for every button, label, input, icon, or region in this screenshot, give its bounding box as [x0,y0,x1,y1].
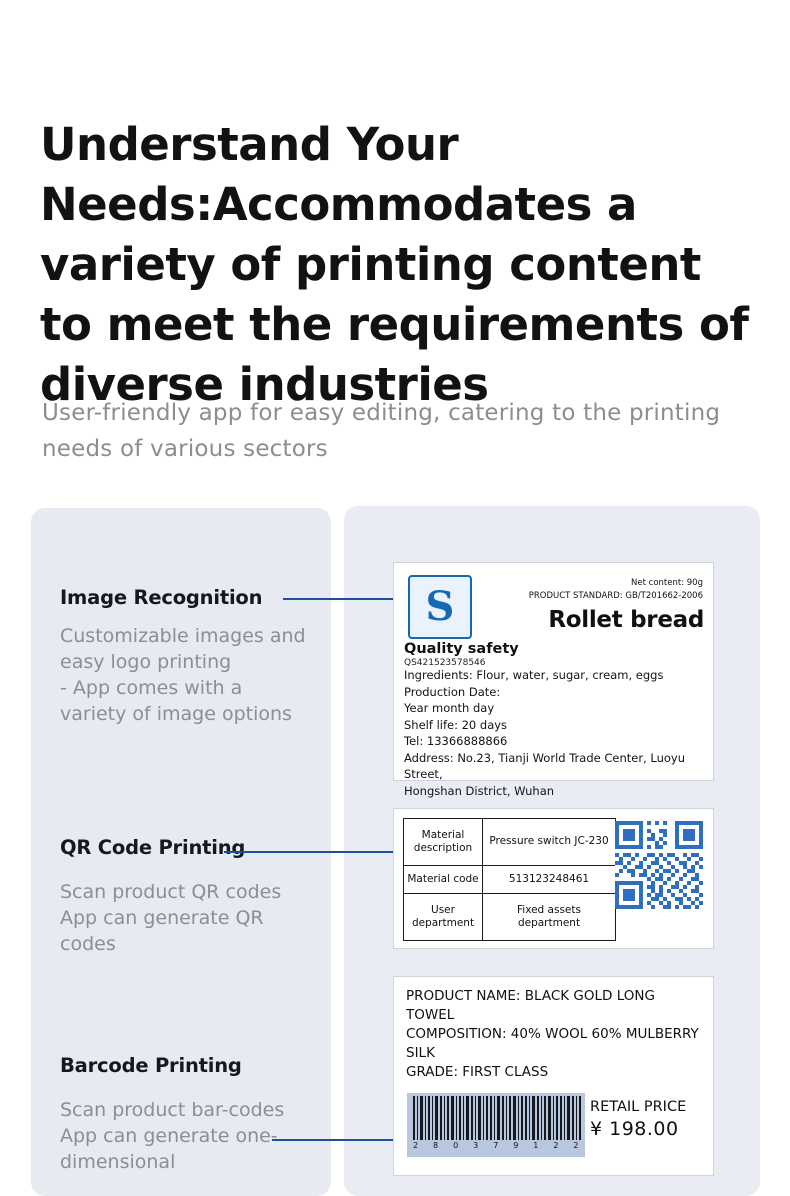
feature-body: Scan product QR codes App can generate Q… [60,879,310,957]
material-code-value: 513123248461 [483,865,616,893]
qr-code-icon [615,821,703,909]
feature-title: Image Recognition [60,586,310,609]
product-composition-line: COMPOSITION: 40% WOOL 60% MULBERRY SILK [406,1025,706,1063]
barcode-digit: 7 [493,1141,499,1150]
retail-price-block: RETAIL PRICE ¥ 198.00 [590,1097,710,1141]
feature-body: Scan product bar-codes App can generate … [60,1097,310,1175]
user-department-value: Fixed assets department [483,894,616,941]
table-row: User department Fixed assets department [404,894,616,941]
connector-line-barcode [272,1139,400,1141]
tel-line: Tel: 13366888866 [404,733,709,750]
ingredients-line: Ingredients: Flour, water, sugar, cream,… [404,667,709,684]
feature-qr-printing: QR Code Printing Scan product QR codes A… [60,836,310,957]
shelf-life-line: Shelf life: 20 days [404,717,709,734]
barcode-digit: 2 [573,1141,579,1150]
production-date-line: Production Date: [404,684,709,701]
material-code-label: Material code [404,865,483,893]
barcode-digit: 9 [513,1141,519,1150]
net-content: Net content: 90g [529,577,703,590]
ingredients-block: Ingredients: Flour, water, sugar, cream,… [404,667,709,799]
label-card-qr: Material description Pressure switch JC-… [393,808,714,949]
product-standard: PRODUCT STANDARD: GB/T201662-2006 [529,590,703,603]
address-line-2: Hongshan District, Wuhan [404,783,709,800]
qs-badge-letter: S [426,587,455,627]
label-card-product: PRODUCT NAME: BLACK GOLD LONG TOWEL COMP… [393,976,714,1176]
brand-name: Rollet bread [548,607,704,633]
user-department-label: User department [404,894,483,941]
product-text-block: PRODUCT NAME: BLACK GOLD LONG TOWEL COMP… [406,987,706,1082]
label-card-bread: S Quality safety QS421523578546 Net cont… [393,562,714,781]
quality-safety-title: Quality safety [404,641,544,657]
feature-body: Customizable images and easy logo printi… [60,623,310,727]
barcode-digit: 0 [453,1141,459,1150]
feature-barcode-printing: Barcode Printing Scan product bar-codes … [60,1054,310,1175]
table-row: Material description Pressure switch JC-… [404,819,616,866]
connector-line-qr [224,851,399,853]
table-row: Material code 513123248461 [404,865,616,893]
barcode-digit: 2 [553,1141,559,1150]
barcode-digit: 8 [433,1141,439,1150]
feature-image-recognition: Image Recognition Customizable images an… [60,586,310,727]
address-line-1: Address: No.23, Tianji World Trade Cente… [404,750,709,783]
barcode-digit: 2 [413,1141,419,1150]
barcode-icon: 2 8 0 3 7 9 1 2 2 [407,1093,585,1157]
product-name-line: PRODUCT NAME: BLACK GOLD LONG TOWEL [406,987,706,1025]
barcode-digits: 2 8 0 3 7 9 1 2 2 [411,1140,581,1150]
product-grade-line: GRADE: FIRST CLASS [406,1063,706,1082]
barcode-digit: 3 [473,1141,479,1150]
feature-title: QR Code Printing [60,836,310,859]
material-description-label: Material description [404,819,483,866]
connector-line-image [283,598,399,600]
barcode-bars [411,1096,581,1140]
retail-price-label: RETAIL PRICE [590,1097,710,1117]
page-subtitle: User-friendly app for easy editing, cate… [42,395,742,467]
barcode-digit: 1 [533,1141,539,1150]
material-description-value: Pressure switch JC-230 [483,819,616,866]
feature-title: Barcode Printing [60,1054,310,1077]
quality-safety-text: Quality safety QS421523578546 [404,641,544,668]
page-title: Understand Your Needs:Accommodates a var… [40,115,760,415]
net-content-block: Net content: 90g PRODUCT STANDARD: GB/T2… [529,577,703,603]
material-table: Material description Pressure switch JC-… [403,818,616,941]
date-placeholder-line: Year month day [404,700,709,717]
retail-price-value: ¥ 198.00 [590,1117,710,1141]
page-root: Understand Your Needs:Accommodates a var… [0,0,790,1196]
quality-safety-icon: S [408,575,472,639]
